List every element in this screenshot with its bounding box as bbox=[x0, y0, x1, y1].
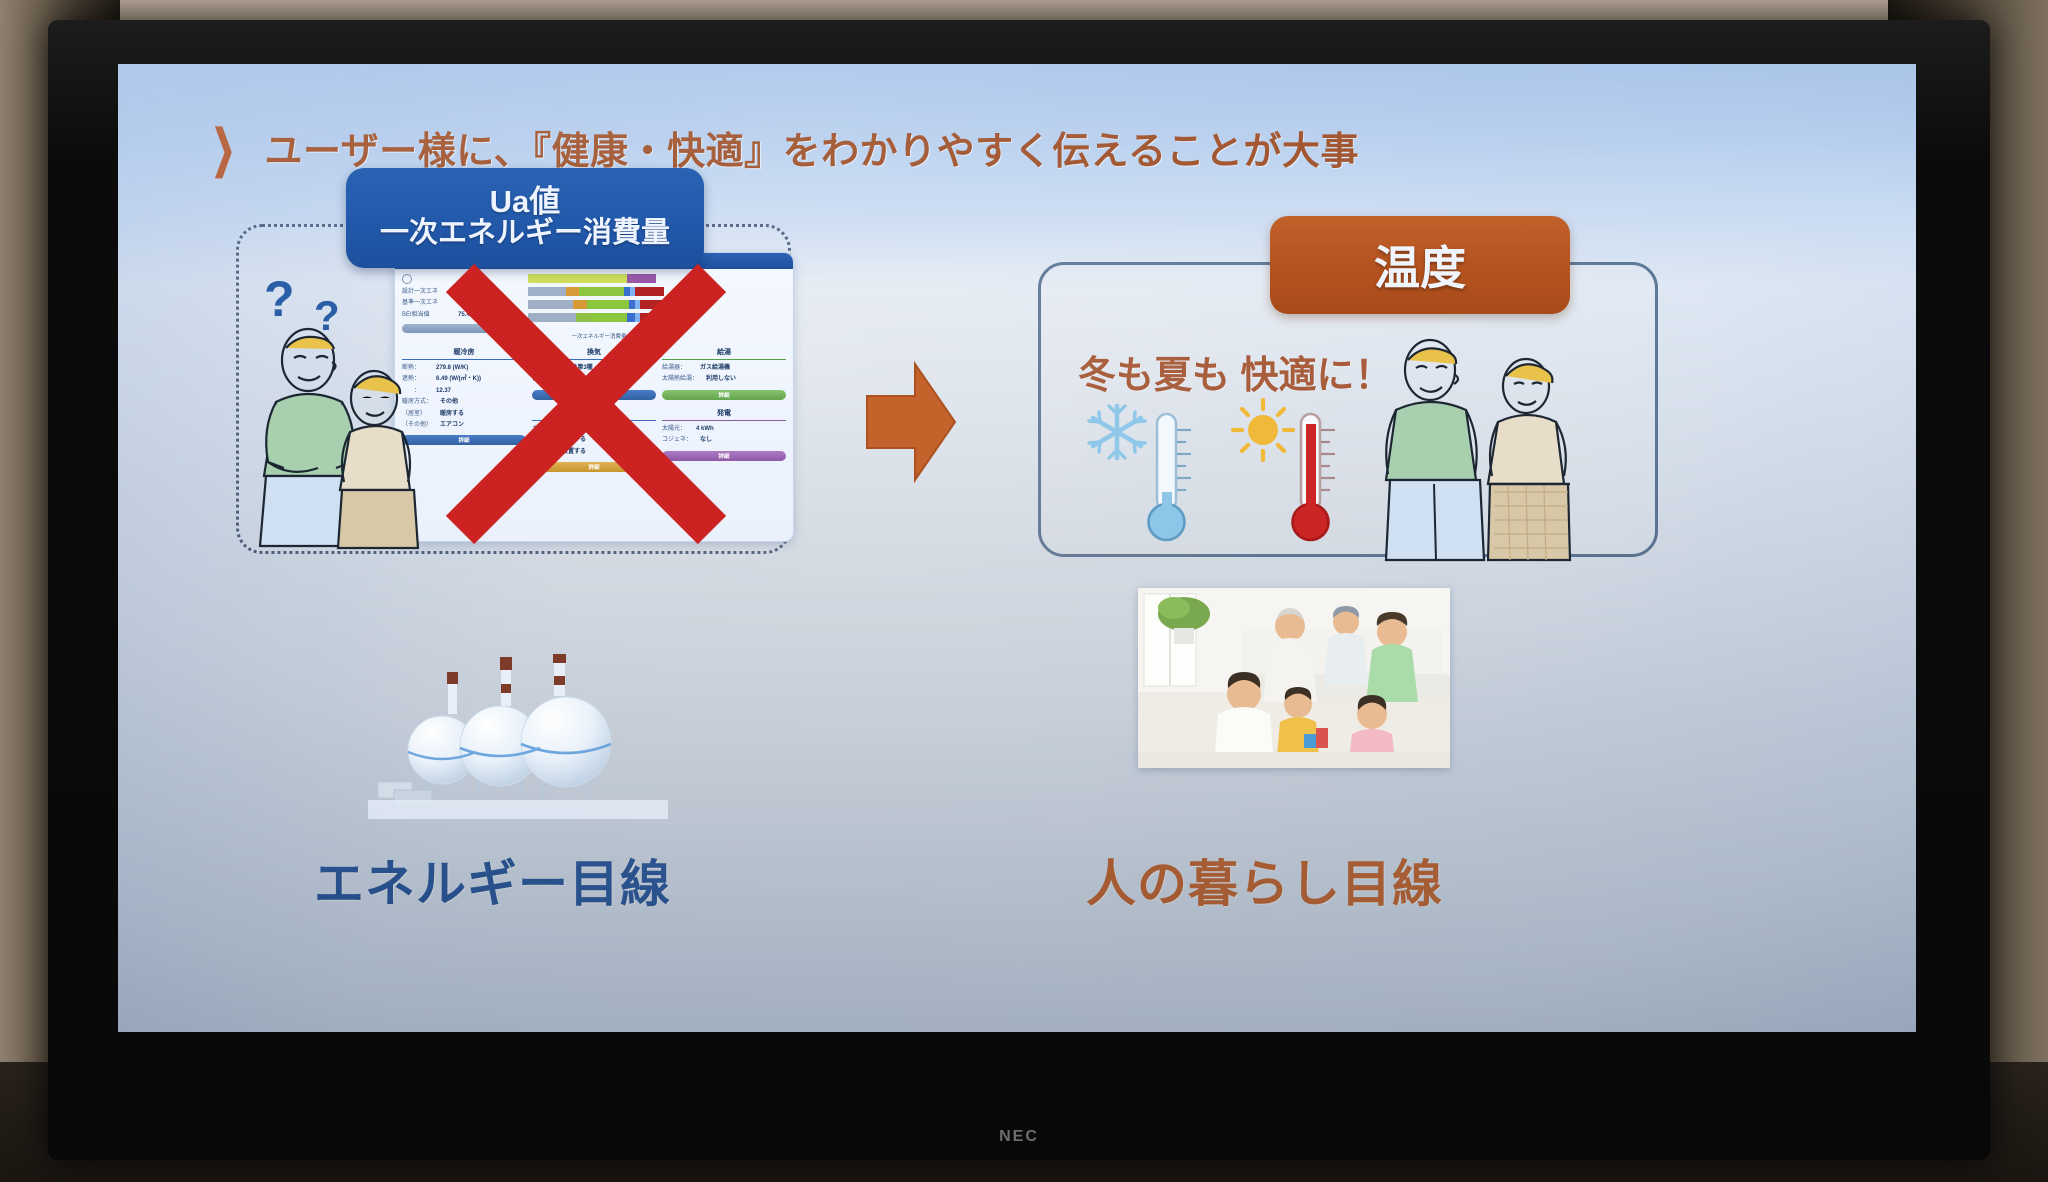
sun-icon bbox=[1233, 400, 1293, 460]
display-brand-label: NEC bbox=[999, 1128, 1039, 1146]
right-subtitle: 冬も夏も 快適に！ bbox=[1078, 344, 1393, 399]
left-caption: エネルギー目線 bbox=[314, 844, 671, 916]
snowflake-icon bbox=[1089, 406, 1145, 458]
gas-storage-tanks-image bbox=[368, 654, 668, 819]
cold-thermometer-icon bbox=[1149, 414, 1192, 540]
badge-line-2: 一次エネルギー消費量 bbox=[380, 218, 670, 250]
thermometer-icons bbox=[1073, 396, 1373, 556]
right-caption: 人の暮らし目線 bbox=[1086, 844, 1443, 916]
presentation-slide: ❯ ユーザー様に、『健康・快適』をわかりやすく伝えることが大事 設計一次エネ 6… bbox=[118, 64, 1916, 1032]
red-x-icon bbox=[436, 254, 736, 554]
hot-thermometer-icon bbox=[1293, 414, 1336, 540]
chevron-right-icon: ❯ bbox=[211, 122, 235, 173]
badge-label: 温度 bbox=[1374, 232, 1466, 298]
page-title: ユーザー様に、『健康・快適』をわかりやすく伝えることが大事 bbox=[265, 120, 1359, 175]
status-badge-temperature: 温度 bbox=[1270, 216, 1570, 314]
right-arrow-icon bbox=[863, 356, 959, 488]
family-living-room-photo bbox=[1138, 588, 1450, 768]
slide-title-row: ❯ ユーザー様に、『健康・快適』をわかりやすく伝えることが大事 bbox=[204, 120, 1359, 175]
couple-illustration bbox=[1368, 334, 1608, 564]
display-bezel: ❯ ユーザー様に、『健康・快適』をわかりやすく伝えることが大事 設計一次エネ 6… bbox=[48, 20, 1990, 1160]
radio-icon bbox=[402, 274, 412, 284]
status-badge-ua-value: Ua値 一次エネルギー消費量 bbox=[346, 168, 704, 268]
badge-line-1: Ua値 bbox=[490, 186, 561, 218]
